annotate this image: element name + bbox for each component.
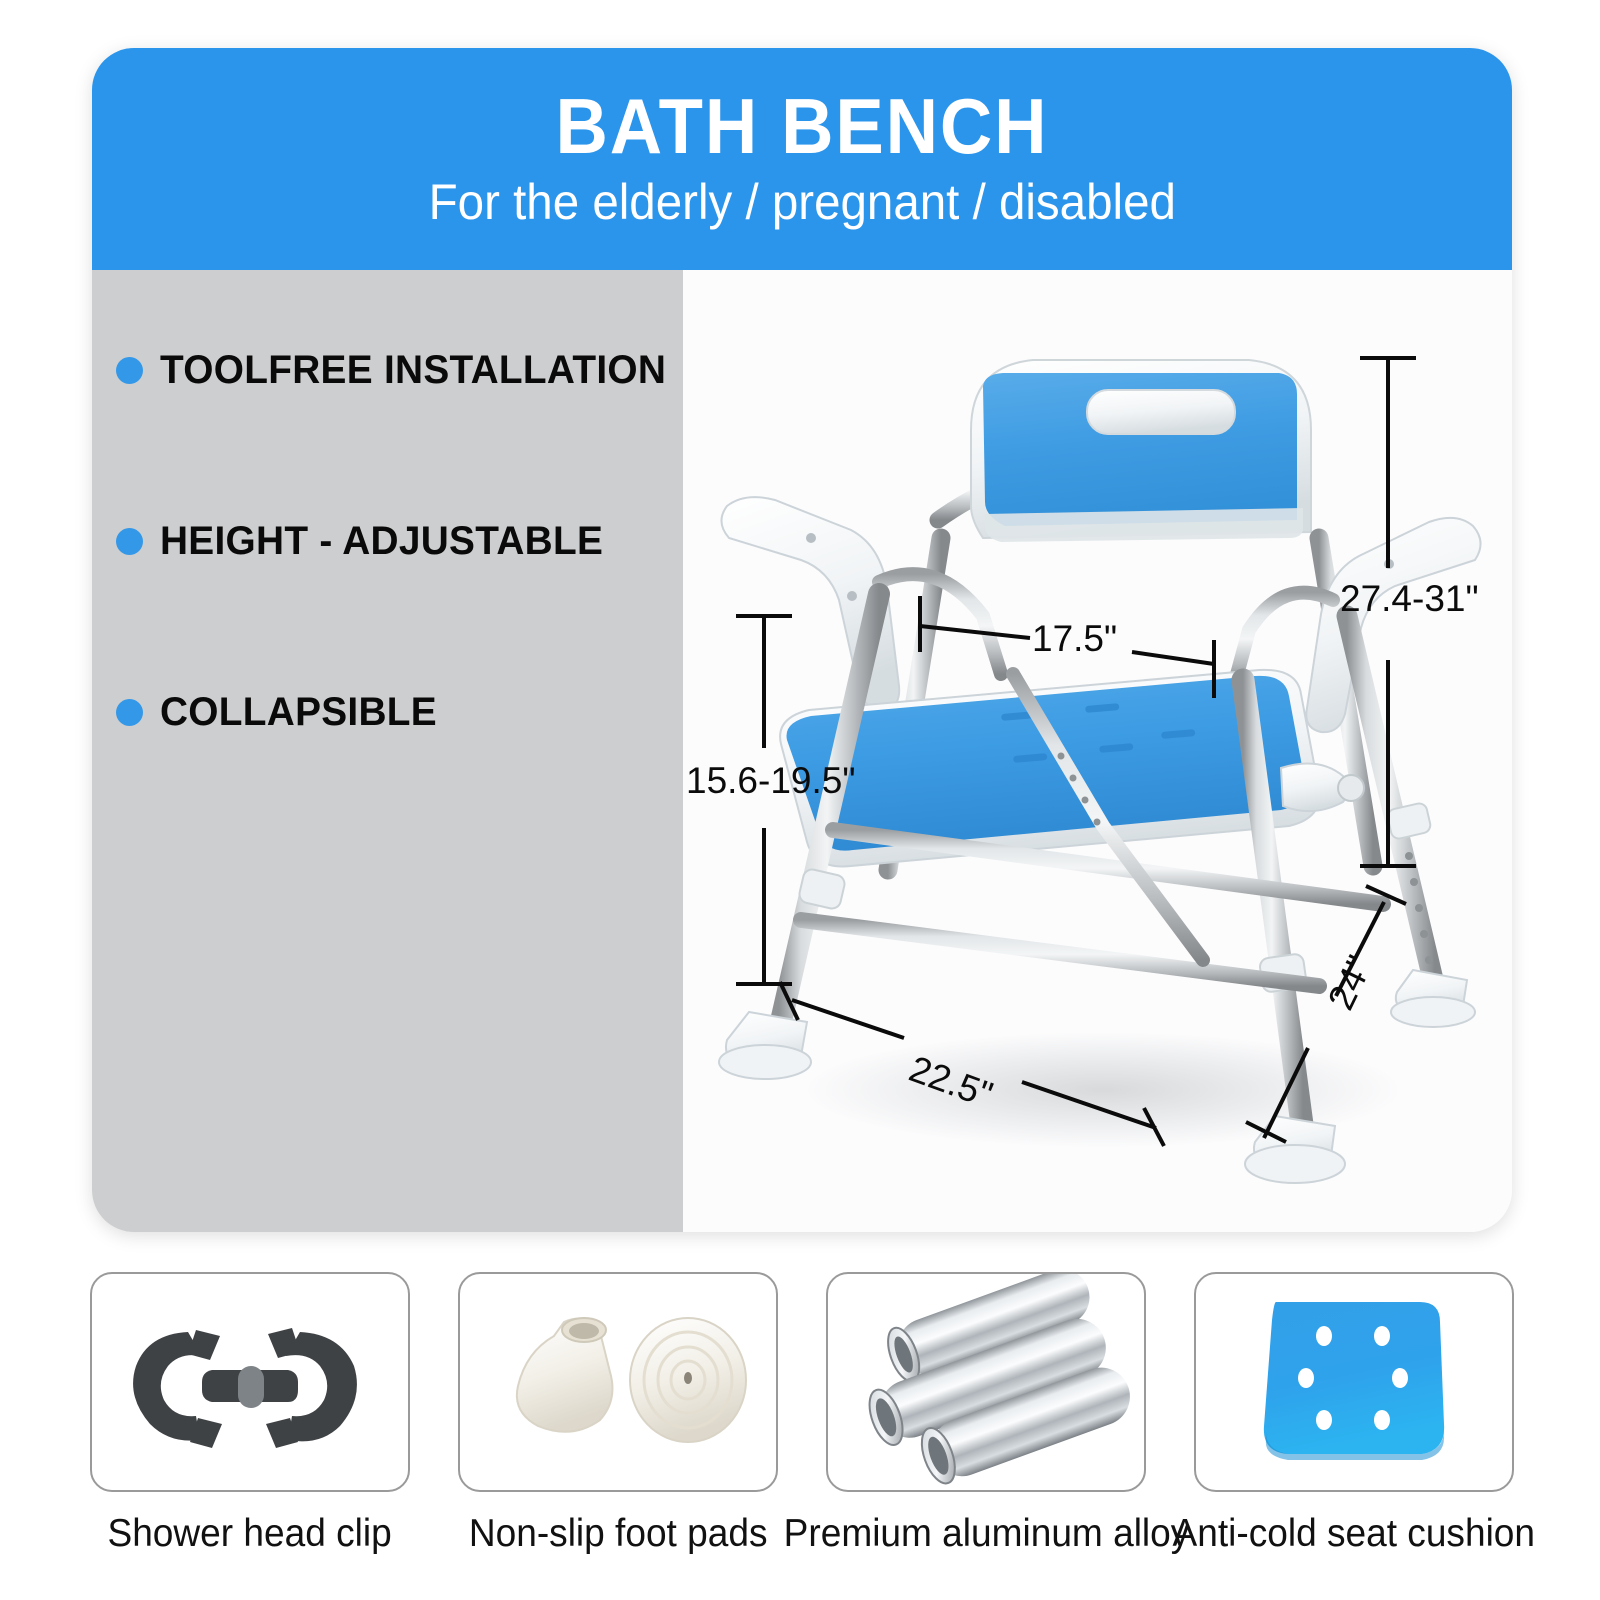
feature-label: COLLAPSIBLE xyxy=(160,690,437,735)
feature-list: TOOLFREE INSTALLATION HEIGHT - ADJUSTABL… xyxy=(116,348,676,861)
seat-cushion-icon xyxy=(1196,1274,1512,1490)
dimension-seat-height: 15.6-19.5" xyxy=(686,760,855,802)
backrest-handle-icon xyxy=(1087,390,1235,434)
accessory-card-label: Non-slip foot pads xyxy=(469,1512,768,1556)
accessory-card-label: Premium aluminum alloy xyxy=(783,1512,1189,1556)
feature-item-collapsible: COLLAPSIBLE xyxy=(116,690,676,735)
header-banner: BATH BENCH For the elderly / pregnant / … xyxy=(92,48,1512,270)
aluminum-tubes-icon xyxy=(828,1274,1144,1490)
feature-item-toolfree: TOOLFREE INSTALLATION xyxy=(116,348,676,393)
bullet-dot-icon xyxy=(116,357,143,384)
feature-label: TOOLFREE INSTALLATION xyxy=(160,348,666,393)
card-image-box xyxy=(458,1272,778,1492)
left-front-foot xyxy=(719,1012,811,1079)
card-image-box xyxy=(826,1272,1146,1492)
feature-label: HEIGHT - ADJUSTABLE xyxy=(160,519,603,564)
accessory-card-foot-pads[interactable]: Non-slip foot pads xyxy=(460,1272,776,1572)
right-rear-foot xyxy=(1391,970,1475,1027)
card-image-box xyxy=(1194,1272,1514,1492)
lower-cross-brace xyxy=(801,920,1319,986)
accessory-card-row: Shower head clip xyxy=(92,1272,1512,1572)
foot-pad-icon xyxy=(460,1274,776,1490)
page-title: BATH BENCH xyxy=(556,87,1049,167)
accessory-card-aluminum-alloy[interactable]: Premium aluminum alloy xyxy=(828,1272,1144,1572)
accessory-card-seat-cushion[interactable]: Anti-cold seat cushion xyxy=(1196,1272,1512,1572)
page-subtitle: For the elderly / pregnant / disabled xyxy=(428,173,1175,231)
shower-head-clip-icon xyxy=(92,1274,408,1490)
dimension-seat-width: 17.5" xyxy=(1032,618,1117,660)
product-infographic-panel: BATH BENCH For the elderly / pregnant / … xyxy=(92,48,1512,1232)
accessory-card-label: Anti-cold seat cushion xyxy=(1173,1512,1535,1556)
accessory-card-shower-head-clip[interactable]: Shower head clip xyxy=(92,1272,408,1572)
right-armrest xyxy=(1306,518,1480,732)
backrest xyxy=(971,360,1311,542)
bullet-dot-icon xyxy=(116,699,143,726)
card-image-box xyxy=(90,1272,410,1492)
feature-item-height-adjustable: HEIGHT - ADJUSTABLE xyxy=(116,519,676,564)
bullet-dot-icon xyxy=(116,528,143,555)
dimension-overall-height: 27.4-31" xyxy=(1340,578,1479,620)
product-image xyxy=(683,270,1512,1232)
accessory-card-label: Shower head clip xyxy=(108,1512,392,1556)
bath-bench-illustration xyxy=(683,270,1512,1232)
